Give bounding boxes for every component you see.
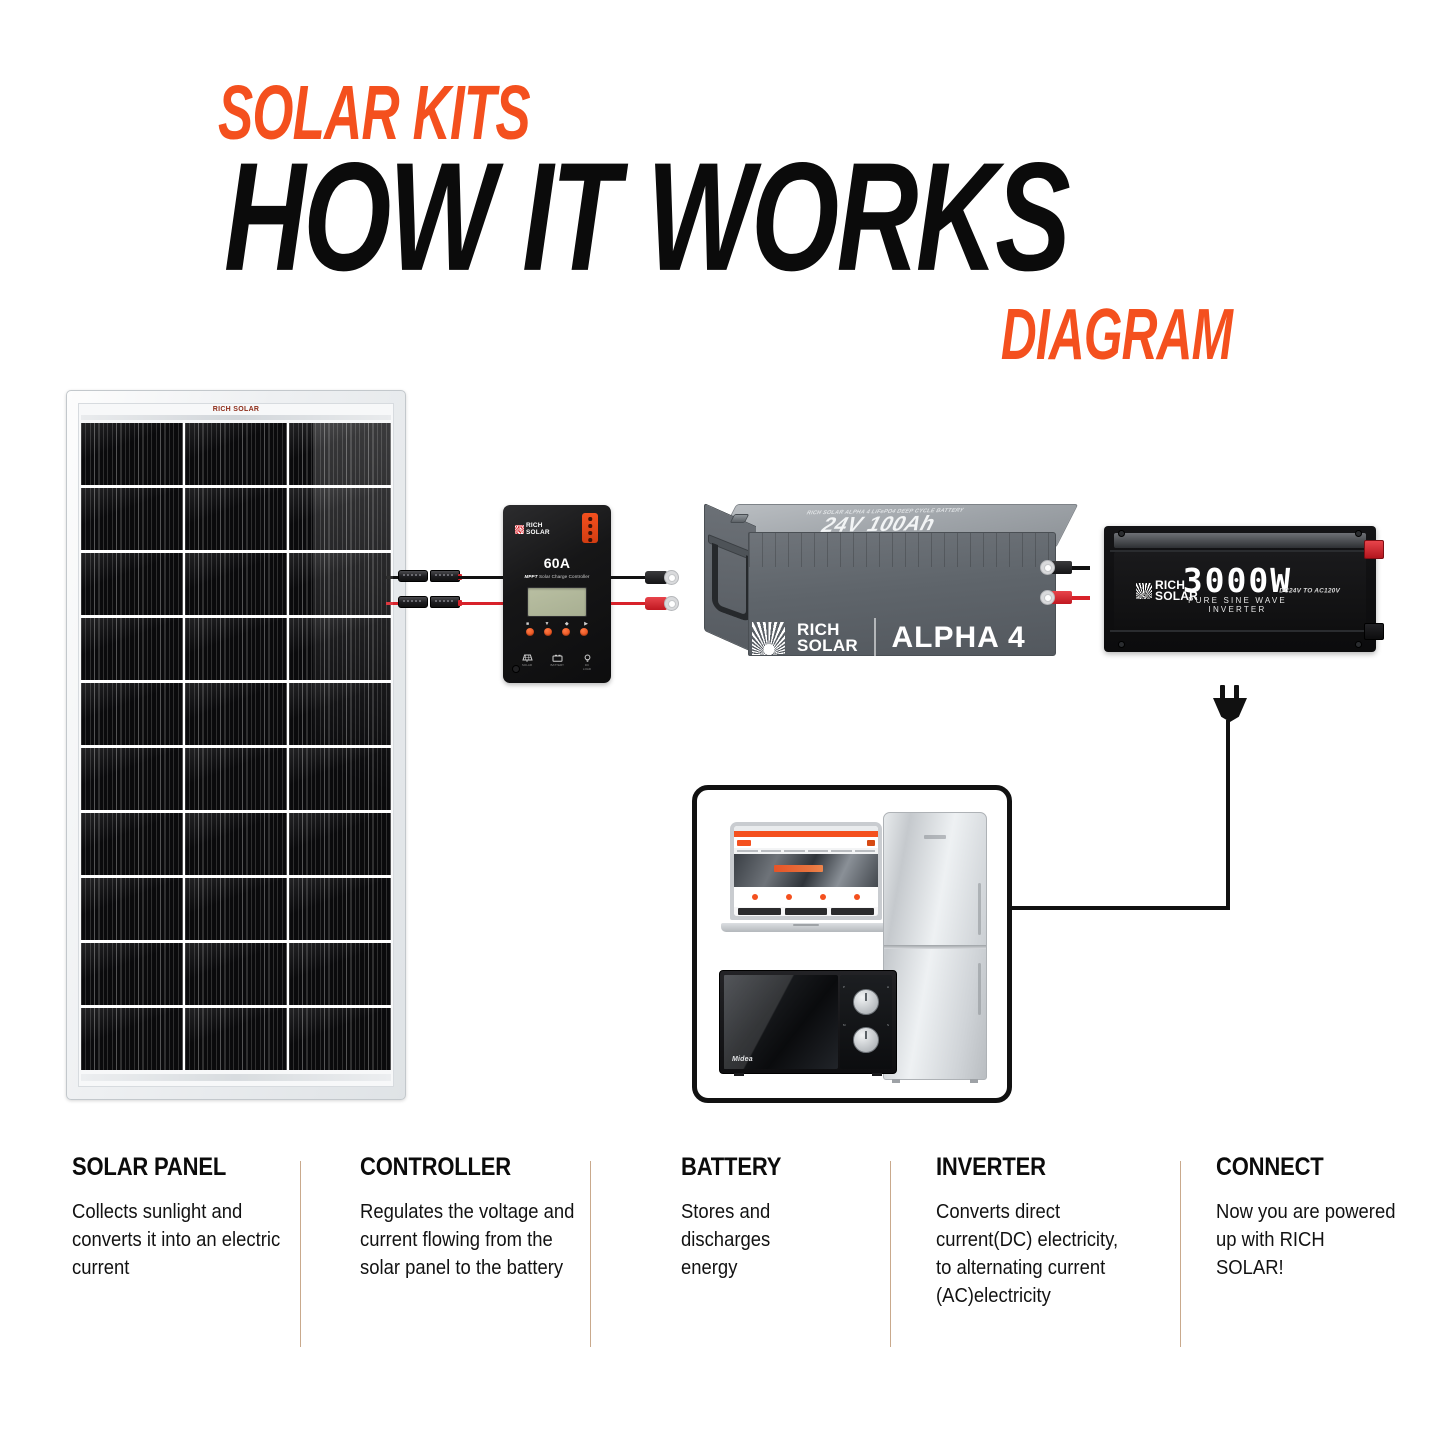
microwave-brand: Midea [732, 1056, 753, 1063]
inverter-heatsink-strip [1114, 533, 1366, 548]
mc4-connector-pos-male [398, 596, 428, 608]
charge-controller[interactable]: RICH SOLAR 60A MPPT Solar Charge Control… [503, 505, 611, 683]
header-subtitle: DIAGRAM [1001, 300, 1232, 372]
solar-cell [81, 1008, 183, 1070]
controller-button-indicators: ■▼◆▶ [526, 621, 588, 627]
solar-cell [81, 423, 183, 485]
solar-panel-icon: SOLAR [521, 654, 534, 671]
load-bulb-icon: DC LOAD [581, 654, 594, 671]
controller-brand-line2: SOLAR [526, 529, 550, 536]
legend-body: Regulates the voltage and current flowin… [360, 1198, 575, 1282]
solar-cell [289, 943, 391, 1005]
controller-buttons[interactable] [526, 628, 588, 636]
battery: RICH SOLAR ALPHA 4 LiFePO4 DEEP CYCLE BA… [690, 504, 1056, 684]
controller-type: MPPT Solar Charge Controller [503, 574, 611, 579]
microwave-control-panel[interactable]: P H M S [840, 975, 892, 1069]
solar-cell [289, 488, 391, 550]
controller-screw [512, 665, 520, 673]
controller-lcd-screen [527, 587, 587, 617]
legend-body: Collects sunlight and converts it into a… [72, 1198, 282, 1282]
plug-body [1213, 698, 1247, 722]
page-title: HOW IT WORKS [224, 140, 1068, 295]
battery-negative-lug [645, 571, 679, 584]
solar-cell [185, 748, 287, 810]
inverter-negative-lug [1040, 561, 1074, 574]
legend-divider-3 [890, 1161, 891, 1347]
solar-cell [81, 553, 183, 615]
battery-model: ALPHA 4 [892, 621, 1026, 655]
mc4-connector-neg-female [430, 570, 460, 582]
legend: SOLAR PANELCollects sunlight and convert… [0, 1155, 1440, 1440]
ac-cable-vertical [1226, 720, 1230, 910]
rich-solar-sunburst-icon [515, 525, 524, 534]
legend-title: SOLAR PANEL [72, 1155, 277, 1180]
rich-solar-sunburst-icon [1136, 583, 1152, 599]
battery-brand-divider [874, 618, 876, 658]
mc4-connector-neg-male [398, 570, 428, 582]
solar-cell [289, 1008, 391, 1070]
refrigerator [883, 812, 987, 1080]
solar-cell [289, 813, 391, 875]
solar-cell [81, 748, 183, 810]
microwave-power-knob[interactable] [853, 989, 879, 1015]
panel-positive-wire-b [458, 602, 506, 605]
battery-positive-lug [645, 597, 679, 610]
solar-cell [289, 748, 391, 810]
legend-divider-1 [300, 1161, 301, 1347]
inverter-fin [1110, 630, 1370, 632]
solar-cell [289, 553, 391, 615]
controller-button-2[interactable] [544, 628, 552, 636]
controller-button-1[interactable] [526, 628, 534, 636]
legend-title: CONTROLLER [360, 1155, 570, 1180]
ac-cable-horizontal [1008, 906, 1230, 910]
fridge-badge [924, 835, 946, 839]
battery-top-ribs [749, 533, 1055, 567]
legend-column-battery: BATTERYStores and discharges energy [681, 1155, 848, 1282]
battery-branding: RICH SOLAR ALPHA 4 [752, 618, 1026, 658]
laptop-lid [730, 822, 882, 920]
plug-prong-left [1220, 685, 1225, 700]
ac-plug [1210, 685, 1250, 731]
solar-cell [185, 683, 287, 745]
legend-divider-2 [590, 1161, 591, 1347]
solar-cell [185, 943, 287, 1005]
fridge-handle-lower [978, 963, 981, 1015]
controller-brand: RICH SOLAR [515, 522, 550, 536]
laptop-screen [734, 826, 878, 916]
legend-column-controller: CONTROLLERRegulates the voltage and curr… [360, 1155, 599, 1282]
inverter-subtitle: PURE SINE WAVE INVERTER [1174, 596, 1300, 614]
site-cart-icon [867, 840, 875, 846]
solar-panel-laminate: RICH SOLAR [78, 403, 394, 1087]
solar-cell [185, 618, 287, 680]
solar-icon-label: SOLAR [521, 663, 534, 667]
legend-title: CONNECT [1216, 1155, 1392, 1180]
panel-brand-label: RICH SOLAR [213, 406, 260, 413]
solar-cell [289, 683, 391, 745]
solar-cell [81, 488, 183, 550]
panel-top-busbar [81, 415, 391, 420]
plug-prong-right [1234, 685, 1239, 700]
controller-to-battery-negative-wire [611, 576, 649, 579]
solar-cell [185, 813, 287, 875]
solar-cell-grid [81, 423, 391, 1070]
site-footer [734, 907, 878, 916]
site-logo [737, 840, 751, 846]
site-hero-image [734, 854, 878, 887]
panel-negative-wire-b [458, 576, 506, 579]
appliance-group: Midea P H M S [692, 785, 1012, 1103]
solar-cell [185, 878, 287, 940]
fridge-door-split [884, 945, 986, 949]
solar-cell [185, 553, 287, 615]
site-header [734, 837, 878, 848]
legend-body: Stores and discharges energy [681, 1198, 831, 1282]
solar-cell [289, 423, 391, 485]
controller-button-3[interactable] [562, 628, 570, 636]
legend-column-inverter: INVERTERConverts direct current(DC) elec… [936, 1155, 1158, 1310]
controller-button-indicator-2: ▼ [544, 621, 549, 627]
legend-column-connect: CONNECTNow you are powered up with RICH … [1216, 1155, 1416, 1282]
controller-type-bold: MPPT [524, 574, 537, 579]
controller-button-indicator-3: ◆ [565, 621, 569, 627]
solar-cell [185, 423, 287, 485]
microwave: Midea P H M S [719, 970, 897, 1074]
battery-icon-label: BATTERY [551, 663, 564, 667]
legend-body: Converts direct current(DC) electricity,… [936, 1198, 1136, 1310]
inverter: RICH SOLAR 3000W PURE SINE WAVE INVERTER… [1104, 526, 1376, 652]
battery-icon: BATTERY [551, 654, 564, 671]
inverter-ac-outlet-black [1364, 623, 1384, 640]
solar-cell [81, 943, 183, 1005]
solar-cell [185, 488, 287, 550]
solar-cell [81, 813, 183, 875]
controller-button-indicator-1: ■ [526, 621, 529, 627]
battery-brand-line2: SOLAR [797, 636, 858, 655]
solar-cell [81, 683, 183, 745]
controller-button-indicator-4: ▶ [584, 621, 588, 627]
controller-amperage: 60A [503, 555, 611, 571]
diagram-canvas: RICH SOLAR RICH SOLAR 60A MPPT Solar Cha… [0, 380, 1440, 1140]
legend-body: Now you are powered up with RICH SOLAR! [1216, 1198, 1396, 1282]
controller-to-battery-positive-wire [611, 602, 649, 605]
load-icon-label: DC LOAD [581, 663, 594, 671]
legend-column-solar-panel: SOLAR PANELCollects sunlight and convert… [72, 1155, 305, 1282]
inverter-voltage-label: DC24V TO AC120V [1279, 588, 1340, 595]
solar-cell [185, 1008, 287, 1070]
inverter-faceplate: RICH SOLAR 3000W PURE SINE WAVE INVERTER… [1114, 552, 1366, 630]
solar-cell [289, 878, 391, 940]
inverter-positive-lug [1040, 591, 1074, 604]
rich-solar-sunburst-icon [752, 622, 785, 655]
controller-button-4[interactable] [580, 628, 588, 636]
legend-title: INVERTER [936, 1155, 1132, 1180]
mc4-connector-pos-female [430, 596, 460, 608]
laptop-base [721, 923, 891, 932]
fridge-handle-upper [978, 883, 981, 935]
legend-divider-4 [1180, 1161, 1181, 1347]
microwave-timer-knob[interactable] [853, 1027, 879, 1053]
laptop [721, 822, 891, 932]
panel-bottom-busbar [81, 1074, 391, 1081]
solar-cell [81, 618, 183, 680]
solar-cell [81, 878, 183, 940]
controller-type-rest: Solar Charge Controller [539, 574, 590, 579]
solar-panel: RICH SOLAR [66, 390, 406, 1100]
site-feature-icons [734, 887, 878, 907]
controller-brand-line1: RICH [526, 522, 543, 529]
legend-title: BATTERY [681, 1155, 828, 1180]
page-header: SOLAR KITS HOW IT WORKS DIAGRAM [0, 0, 1440, 380]
controller-vent [582, 513, 598, 543]
solar-cell [289, 618, 391, 680]
inverter-ac-outlet-red [1364, 540, 1384, 559]
microwave-door: Midea [724, 975, 838, 1069]
